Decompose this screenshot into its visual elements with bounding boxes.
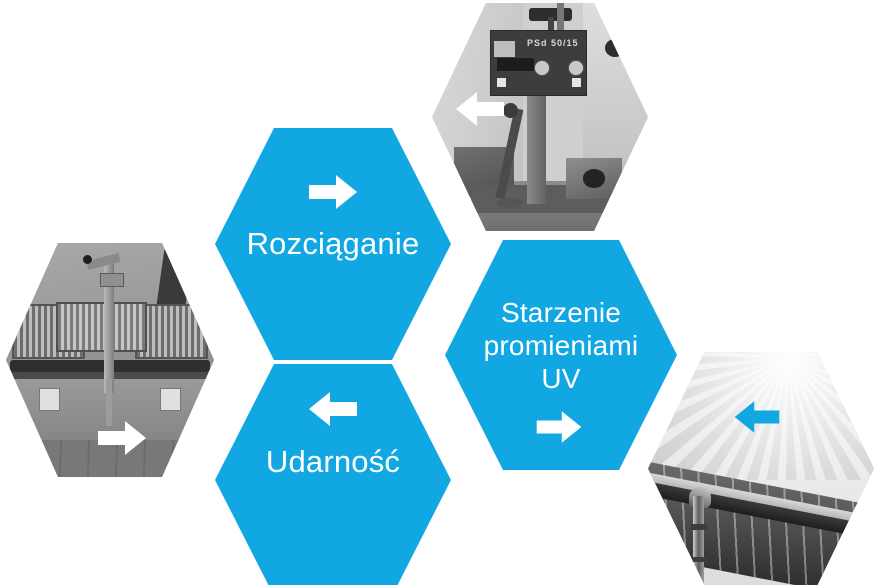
hexagon-process-diagram: PSd 50/15 — [0, 0, 880, 585]
arrow-left-icon — [452, 89, 508, 129]
hexagon-rozciaganie[interactable]: Rozciąganie — [215, 128, 451, 360]
arrow-right-icon — [305, 172, 361, 212]
hexagon-udarnosc[interactable]: Udarność — [215, 364, 451, 585]
arrow-right-icon — [94, 418, 150, 458]
roof-uv-photo — [648, 352, 874, 585]
device-model-label: PSd 50/15 — [527, 38, 579, 48]
hexagon-photo-tensile-rig[interactable] — [6, 243, 214, 477]
hexagon-shape — [215, 128, 451, 360]
arrow-left-icon — [305, 389, 361, 429]
hexagon-photo-impact-tester[interactable]: PSd 50/15 — [432, 3, 648, 231]
arrow-left-icon — [731, 398, 783, 436]
hexagon-photo-roof-uv[interactable] — [648, 352, 874, 585]
arrow-right-icon — [533, 408, 585, 446]
hexagon-starzenie-uv[interactable]: Starzenie promieniami UV — [445, 240, 677, 470]
roof-uv-scene — [648, 352, 874, 585]
